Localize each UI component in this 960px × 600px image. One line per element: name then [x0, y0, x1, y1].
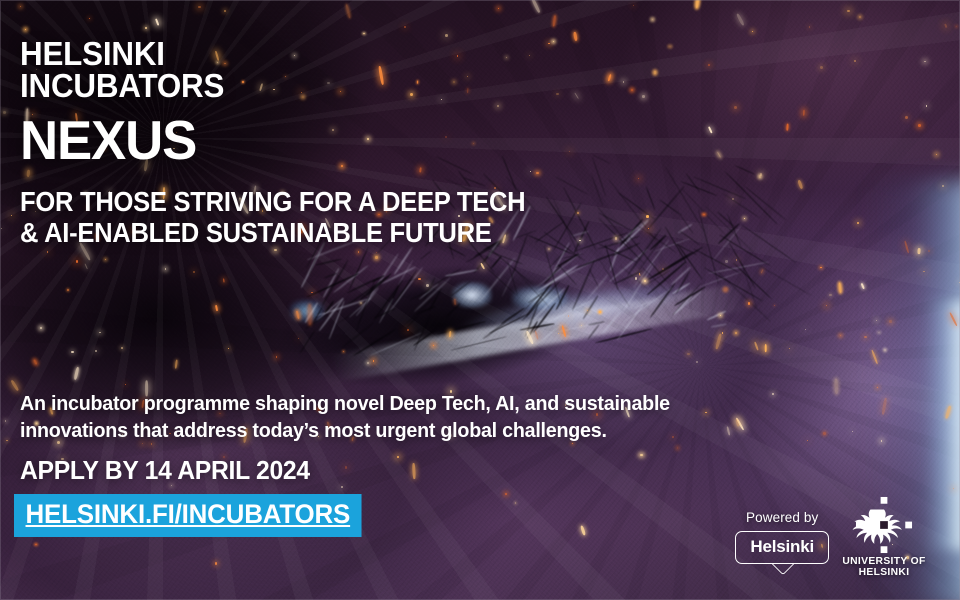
university-of-helsinki-flame-emblem	[822, 496, 946, 554]
description-text: An incubator programme shaping novel Dee…	[20, 391, 670, 444]
tagline-line-1: FOR THOSE STRIVING FOR A DEEP TECH	[20, 187, 894, 218]
programme-name: NEXUS	[20, 113, 922, 168]
brand-kicker: HELSINKI INCUBATORS	[20, 38, 913, 101]
university-name: UNIVERSITY OF HELSINKI	[822, 556, 946, 578]
campaign-poster: HELSINKI INCUBATORS NEXUS FOR THOSE STRI…	[0, 0, 960, 600]
description-line-1: An incubator programme shaping novel Dee…	[20, 391, 670, 418]
powered-by-label: Powered by	[746, 510, 818, 525]
city-of-helsinki-badge: Helsinki	[735, 531, 829, 564]
website-url-badge[interactable]: HELSINKI.FI/INCUBATORS	[14, 494, 362, 537]
brand-kicker-line-1: HELSINKI	[20, 38, 913, 70]
description-line-2: innovations that address today’s most ur…	[20, 418, 670, 445]
tagline: FOR THOSE STRIVING FOR A DEEP TECH & AI-…	[20, 187, 894, 249]
application-deadline: APPLY BY 14 APRIL 2024	[20, 455, 310, 486]
powered-by-lockup: Powered by Helsinki	[735, 510, 829, 564]
brand-kicker-line-2: INCUBATORS	[20, 70, 913, 102]
tagline-line-2: & AI-ENABLED SUSTAINABLE FUTURE	[20, 218, 894, 249]
university-logo: UNIVERSITY OF HELSINKI	[822, 496, 946, 578]
